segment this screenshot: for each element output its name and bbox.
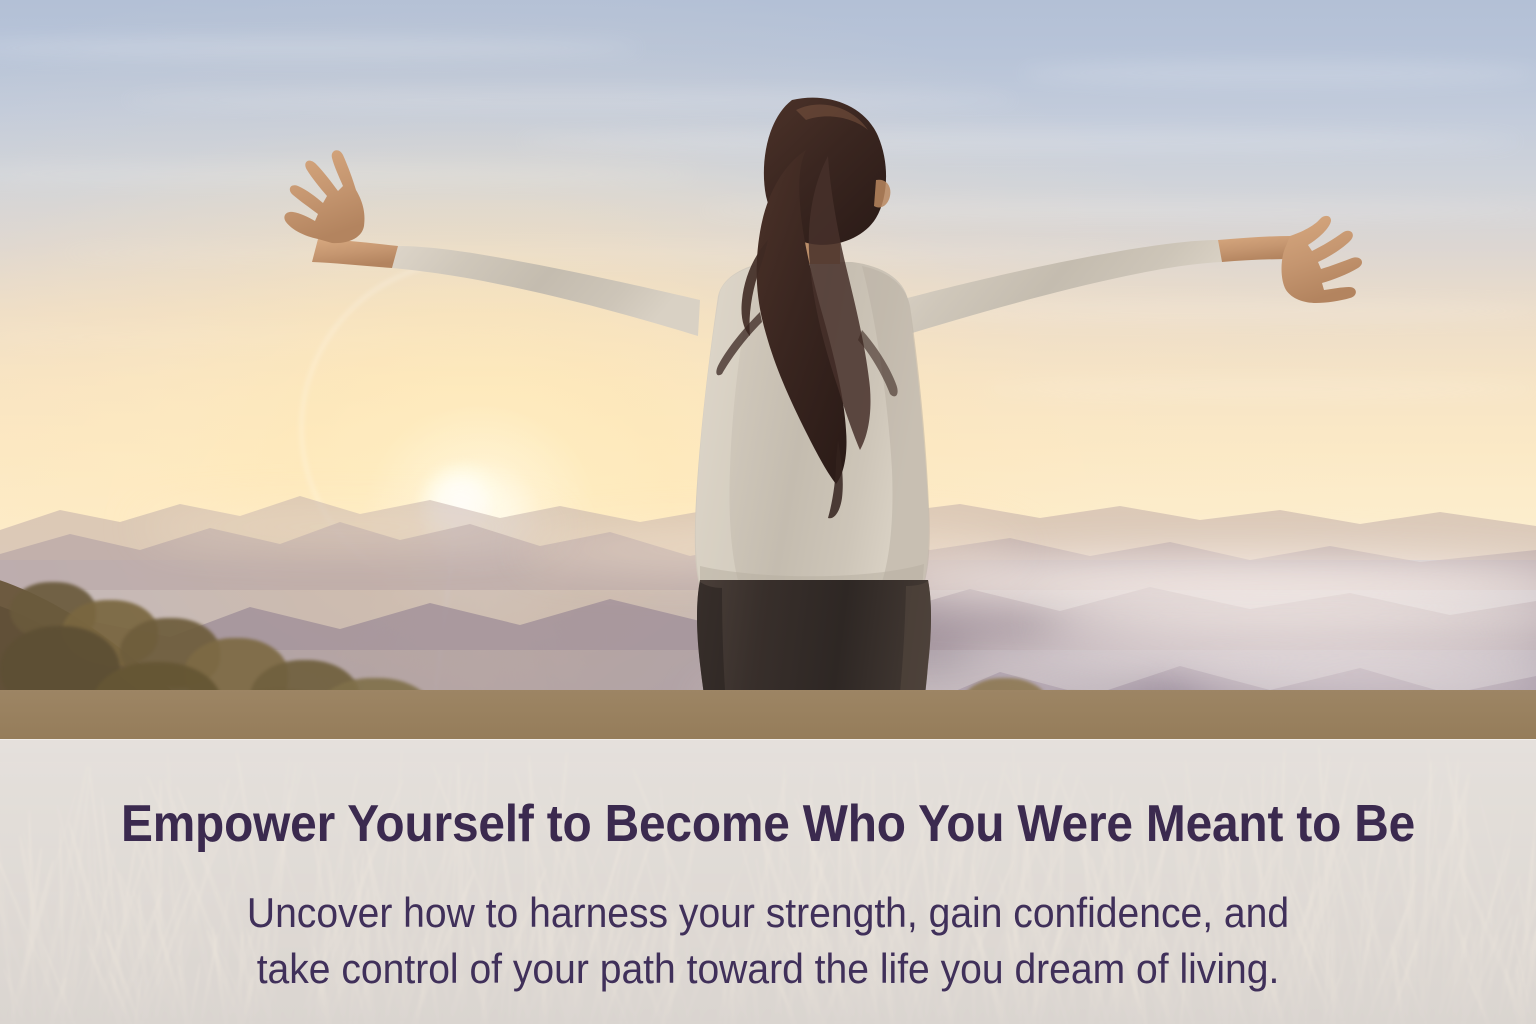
- hero-banner: Empower Yourself to Become Who You Were …: [0, 0, 1536, 1024]
- headline: Empower Yourself to Become Who You Were …: [61, 797, 1474, 852]
- text-overlay-band: Empower Yourself to Become Who You Were …: [0, 739, 1536, 1024]
- subheadline: Uncover how to harness your strength, ga…: [54, 885, 1482, 997]
- subheadline-line-2: take control of your path toward the lif…: [54, 941, 1482, 997]
- subheadline-line-1: Uncover how to harness your strength, ga…: [54, 885, 1482, 941]
